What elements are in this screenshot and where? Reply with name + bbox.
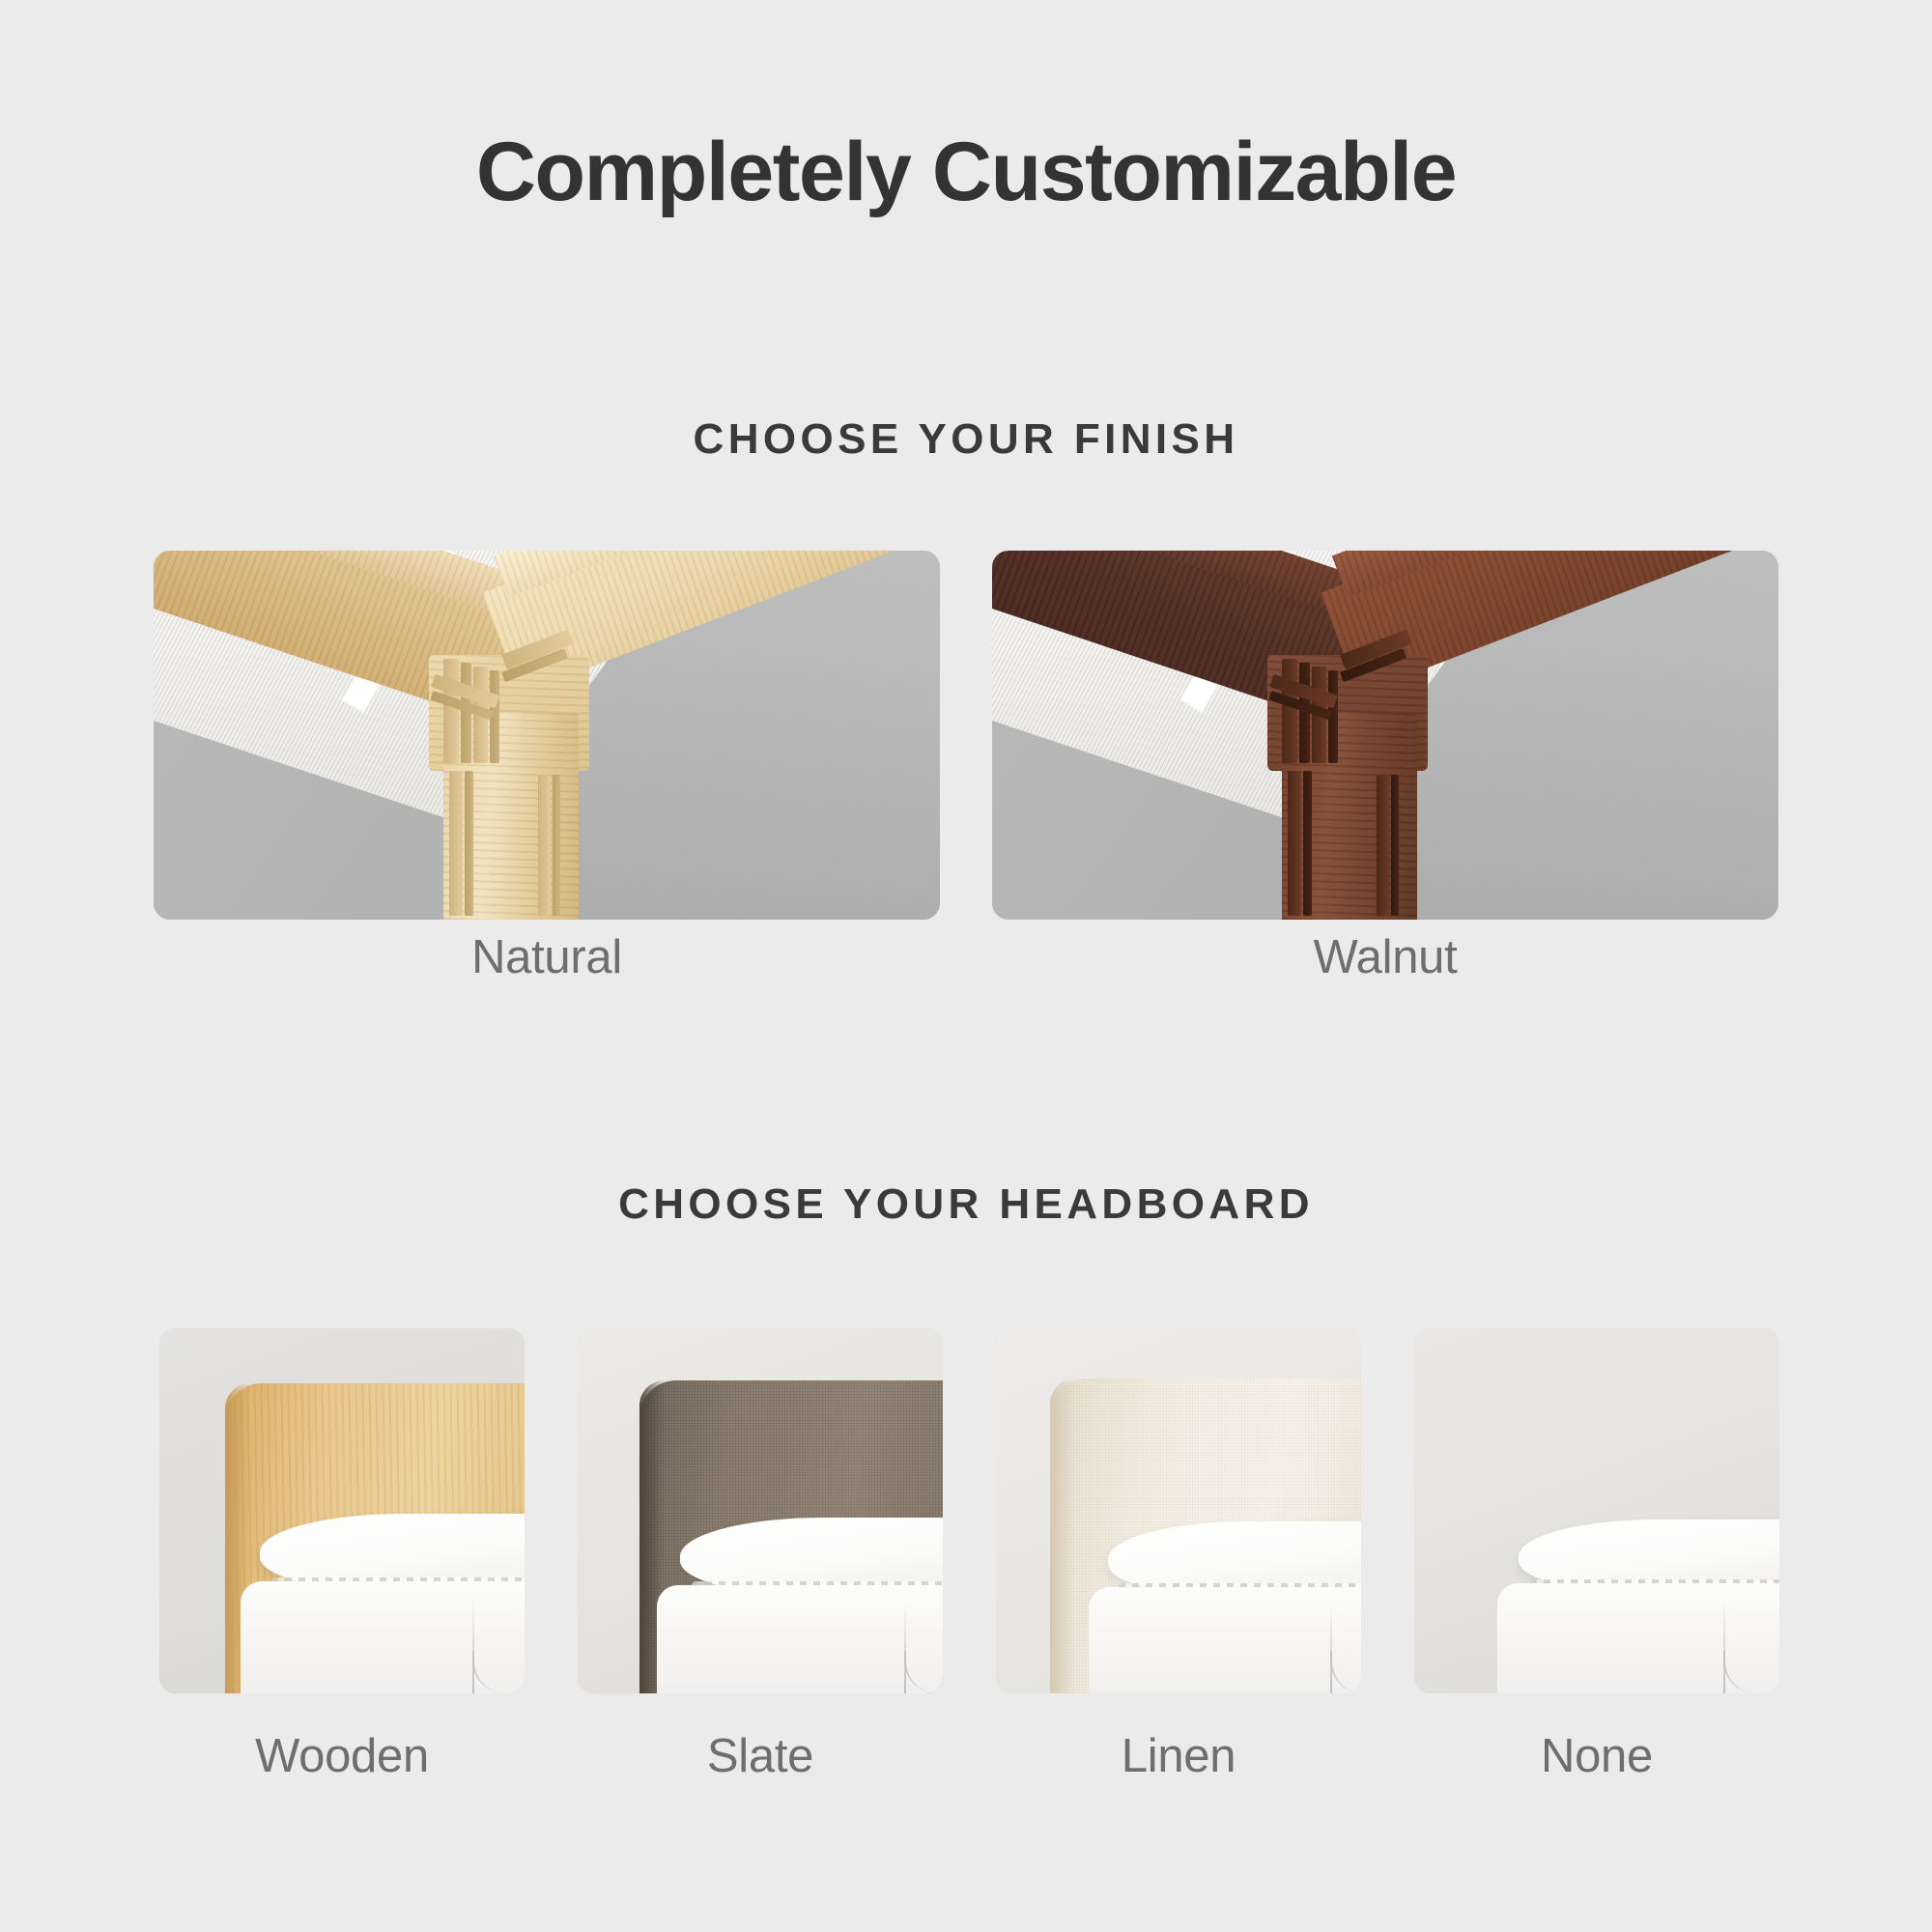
headboard-option-none-label: None: [1414, 1729, 1779, 1783]
finish-option-walnut-label: Walnut: [992, 930, 1778, 984]
pillow: [260, 1514, 525, 1591]
customization-page: Completely Customizable CHOOSE YOUR FINI…: [0, 0, 1932, 1932]
page-title: Completely Customizable: [0, 128, 1932, 215]
pillow: [1108, 1521, 1361, 1597]
headboard-option-slate[interactable]: [578, 1328, 943, 1693]
bedding: [241, 1581, 525, 1693]
finish-option-natural-label: Natural: [154, 930, 940, 984]
finish-option-walnut[interactable]: [992, 551, 1778, 920]
pillow: [680, 1518, 943, 1595]
headboard-option-linen-label: Linen: [996, 1729, 1361, 1783]
headboard-option-wooden-label: Wooden: [159, 1729, 525, 1783]
headboard-option-none[interactable]: [1414, 1328, 1779, 1693]
finish-section-heading: CHOOSE YOUR FINISH: [0, 415, 1932, 464]
headboard-option-slate-label: Slate: [578, 1729, 943, 1783]
walnut-joint-image: [992, 551, 1778, 920]
headboard-option-wooden[interactable]: [159, 1328, 525, 1693]
pillow: [1519, 1520, 1779, 1593]
finish-option-natural[interactable]: [154, 551, 940, 920]
bedding: [1089, 1587, 1361, 1693]
bedding: [657, 1585, 943, 1693]
headboard-option-linen[interactable]: [996, 1328, 1361, 1693]
headboard-section-heading: CHOOSE YOUR HEADBOARD: [0, 1180, 1932, 1229]
bedding: [1497, 1583, 1779, 1693]
natural-joint-image: [154, 551, 940, 920]
